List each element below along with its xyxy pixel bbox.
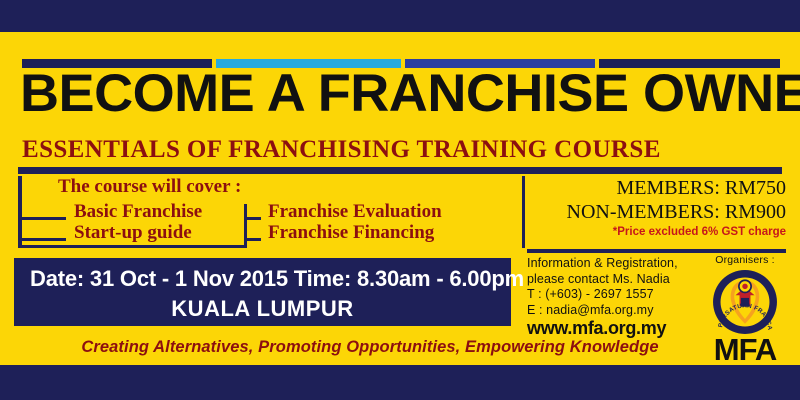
mfa-logo-icon: PERSATUAN FRANCAIS MALAYSIA [710,268,780,336]
bottom-navy-band [0,365,800,400]
tagline: Creating Alternatives, Promoting Opportu… [0,338,740,357]
outline-item-startup-guide: Start-up guide [74,222,192,244]
outline-item-franchise-financing: Franchise Financing [268,222,434,244]
outline-item-basic-franchise: Basic Franchise [74,201,202,223]
outline-connector-1 [22,217,66,220]
price-members: MEMBERS: RM750 [530,176,786,200]
event-details-box: Date: 31 Oct - 1 Nov 2015 Time: 8.30am -… [14,258,511,326]
column-divider [522,176,525,248]
pricing-divider-rule [527,249,786,253]
course-outline: The course will cover : Basic Franchise … [18,176,513,248]
event-location: KUALA LUMPUR [14,296,511,322]
organisers-label: Organisers : [697,254,793,266]
outline-connector-4 [247,238,261,241]
contact-email: E : nadia@mfa.org.my [527,303,707,319]
pricing-block: MEMBERS: RM750 NON-MEMBERS: RM900 *Price… [530,176,786,238]
contact-line-2: please contact Ms. Nadia [527,272,707,288]
promotional-banner: BECOME A FRANCHISE OWNER ESSENTIALS OF F… [0,0,800,400]
outline-connector-2 [22,238,66,241]
contact-phone: T : (+603) - 2697 1557 [527,287,707,303]
contact-website[interactable]: www.mfa.org.my [527,321,707,337]
price-gst-note: *Price excluded 6% GST charge [530,226,786,238]
price-non-members: NON-MEMBERS: RM900 [530,200,786,224]
contact-block: Information & Registration, please conta… [527,256,707,337]
top-navy-band [0,0,800,32]
outline-heading: The course will cover : [58,176,241,198]
subtitle: ESSENTIALS OF FRANCHISING TRAINING COURS… [22,136,661,164]
outline-connector-3 [247,217,261,220]
header-divider-rule [18,167,782,174]
outline-bracket-vertical-secondary [244,204,247,248]
headline: BECOME A FRANCHISE OWNER [20,68,800,120]
event-datetime: Date: 31 Oct - 1 Nov 2015 Time: 8.30am -… [30,266,524,292]
outline-bracket-bottom [18,245,247,248]
outline-item-franchise-evaluation: Franchise Evaluation [268,201,442,223]
contact-line-1: Information & Registration, [527,256,707,272]
